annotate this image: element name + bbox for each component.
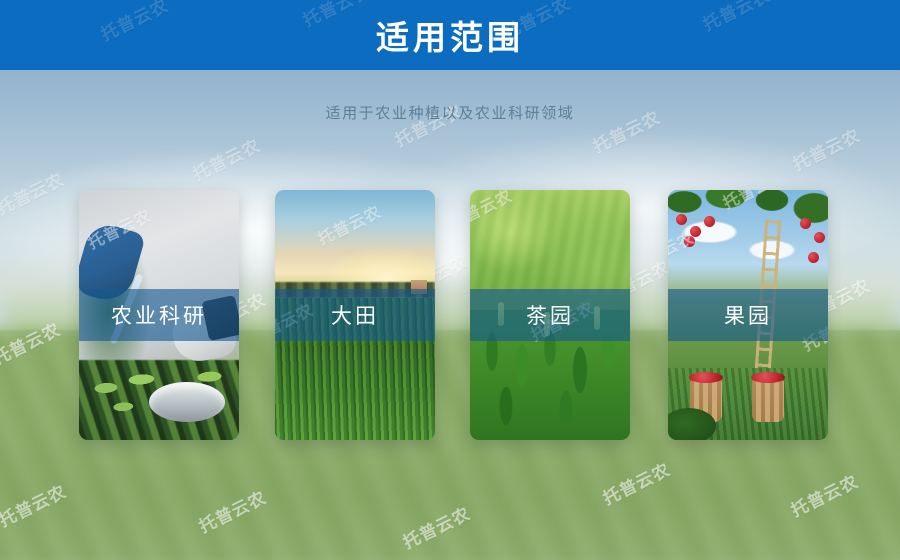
scope-card-list: 托普云农 农业科研 托普云农 托普云农 大田 [0,190,900,440]
card-label: 农业科研 [111,300,207,330]
page-subtitle: 适用于农业种植以及农业科研领域 [0,102,900,123]
barrel-apples [751,372,785,383]
foreground-bush [668,408,716,440]
page-title: 适用范围 [0,0,900,70]
page-root: 托普云农 托普云农 托普云农 托普云农 托普云农 托普云农 托普云农 托普云农 … [0,0,900,560]
card-label-band: 大田 [275,289,435,341]
apple-icon [814,232,825,243]
page-header: 托普云农 托普云农 托普云农 托普云农 适用范围 [0,0,900,70]
card-label: 茶园 [526,300,574,330]
apple-icon [808,252,819,263]
apple-barrel [752,378,784,422]
apple-icon [704,216,715,227]
apple-icon [676,214,687,225]
card-label-band: 茶园 [470,289,630,341]
scope-card-open-field[interactable]: 托普云农 托普云农 大田 [275,190,435,440]
card-label: 果园 [724,300,772,330]
metal-bowl [149,382,225,422]
barrel-apples [689,372,723,383]
card-label: 大田 [331,300,379,330]
card-label-band: 农业科研 [79,289,239,341]
scope-card-tea-garden[interactable]: 托普云农 托普云农 茶园 [470,190,630,440]
card-label-band: 果园 [668,289,828,341]
apple-icon [800,218,811,229]
scope-card-orchard[interactable]: 托普云农 托普云农 托普云农 果园 [668,190,828,440]
scope-card-agricultural-research[interactable]: 托普云农 农业科研 [79,190,239,440]
